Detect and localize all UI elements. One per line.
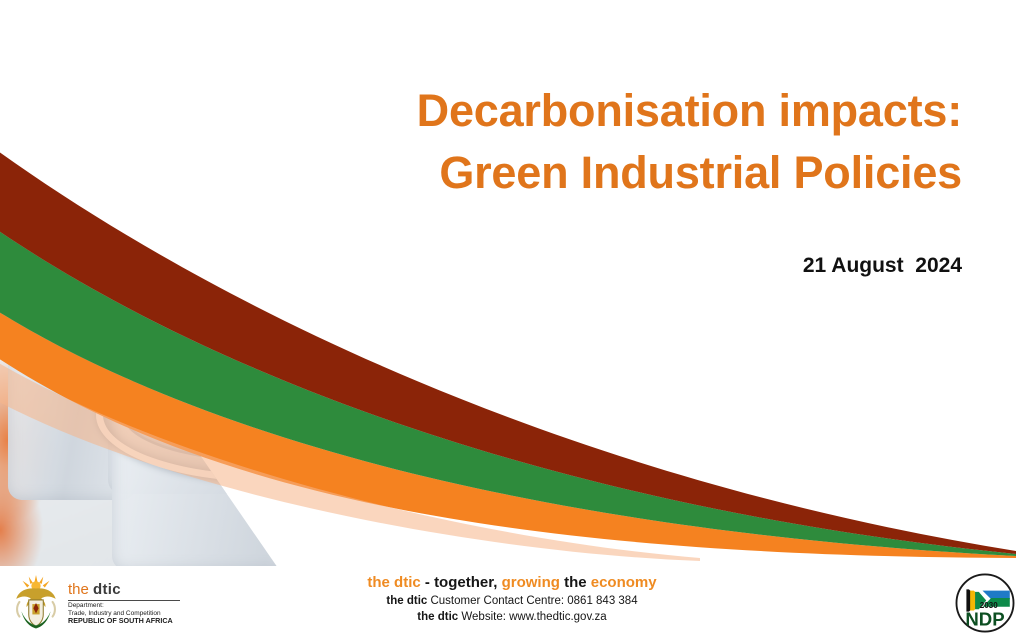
casting-rim-right [356,420,628,520]
tagline-part-5: the [564,574,587,591]
tagline-part-4: growing [497,574,564,591]
dtic-tagline: the dtic - together, growing the economy [0,573,1024,593]
presentation-slide: bse Decarbonisation impacts: Green Indus… [0,0,1024,640]
title-line-1: Decarbonisation impacts: [262,80,962,142]
casting-body-right [370,452,610,566]
slide-date: 21 August 2024 [262,254,962,278]
casting-rim-left-inner [16,286,136,332]
footer-center-text: the dtic - together, growing the economy… [0,573,1024,625]
slide-footer: the dtic Department: Trade, Industry and… [0,566,1024,640]
casting-rim-main-inner [122,366,406,462]
ndp-acronym-text: NDP [965,608,1004,629]
tagline-part-1: the dtic [367,574,420,591]
website-rest: Website: www.thedtic.gov.za [458,611,607,623]
website-bold: the dtic [417,611,458,623]
slide-title: Decarbonisation impacts: Green Industria… [262,80,962,204]
tagline-part-2: - [421,574,434,591]
contact-centre-rest: Customer Contact Centre: 0861 843 384 [427,595,637,607]
casting-rim-mid [100,258,268,330]
tagline-part-6: economy [587,574,657,591]
contact-centre-line: the dtic Customer Contact Centre: 0861 8… [0,593,1024,609]
ndp-2030-logo-icon[interactable]: 2030 NDP [954,572,1016,634]
contact-centre-bold: the dtic [386,595,427,607]
handwritten-marking: bse [261,461,288,486]
title-line-2: Green Industrial Policies [262,142,962,204]
website-line: the dtic Website: www.thedtic.gov.za [0,609,1024,625]
tagline-part-3: together, [434,574,497,591]
